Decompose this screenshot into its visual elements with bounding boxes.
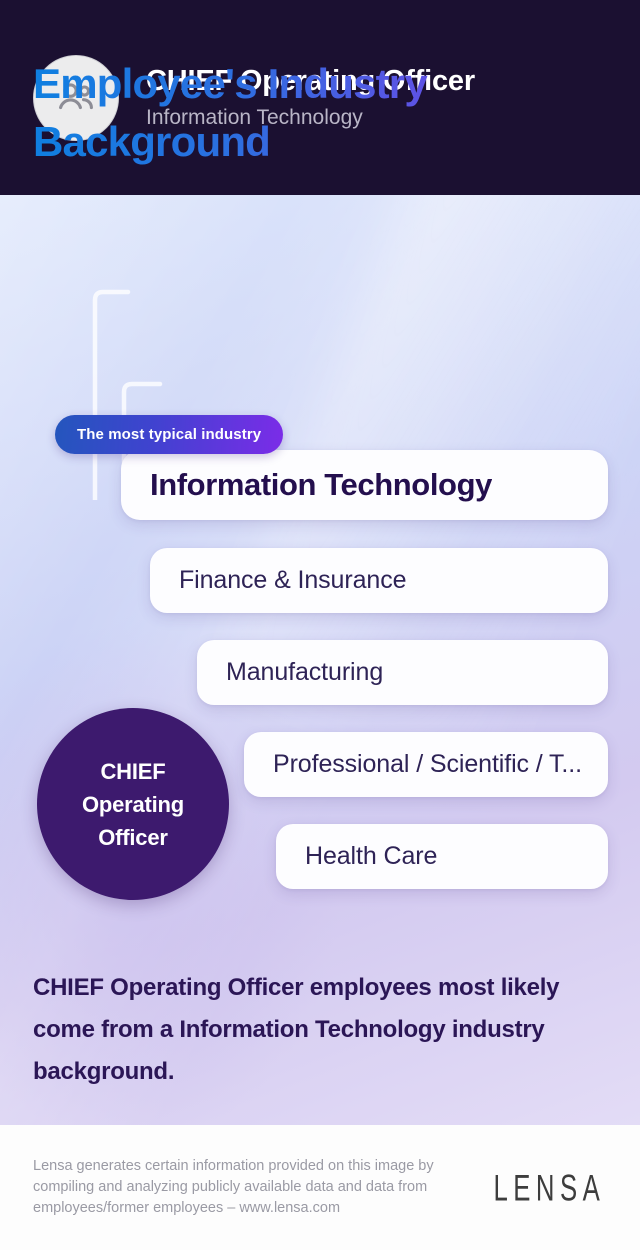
industry-card-label: Professional / Scientific / T... — [273, 750, 582, 779]
industry-card-label: Health Care — [305, 842, 437, 871]
lensa-logo: LENSA — [493, 1166, 605, 1209]
industry-card-label: Manufacturing — [226, 658, 383, 687]
role-hub-node: CHIEF Operating Officer — [37, 708, 229, 900]
infographic-page: CHIEF Operating Officer Information Tech… — [0, 0, 640, 1250]
most-typical-industry-badge: The most typical industry — [55, 415, 283, 454]
industry-card-3[interactable]: Manufacturing — [197, 640, 608, 705]
industry-card-4[interactable]: Professional / Scientific / T... — [244, 732, 608, 797]
industry-card-label: Information Technology — [150, 467, 492, 503]
industry-card-2[interactable]: Finance & Insurance — [150, 548, 608, 613]
badge-label: The most typical industry — [77, 426, 261, 443]
industry-card-label: Finance & Insurance — [179, 566, 406, 595]
footer-disclaimer: Lensa generates certain information prov… — [33, 1156, 462, 1219]
summary-text: CHIEF Operating Officer employees most l… — [33, 967, 605, 1093]
industry-card-1[interactable]: Information Technology — [121, 450, 608, 520]
industry-card-5[interactable]: Health Care — [276, 824, 608, 889]
hub-label: CHIEF Operating Officer — [82, 755, 184, 854]
footer: Lensa generates certain information prov… — [0, 1125, 640, 1250]
